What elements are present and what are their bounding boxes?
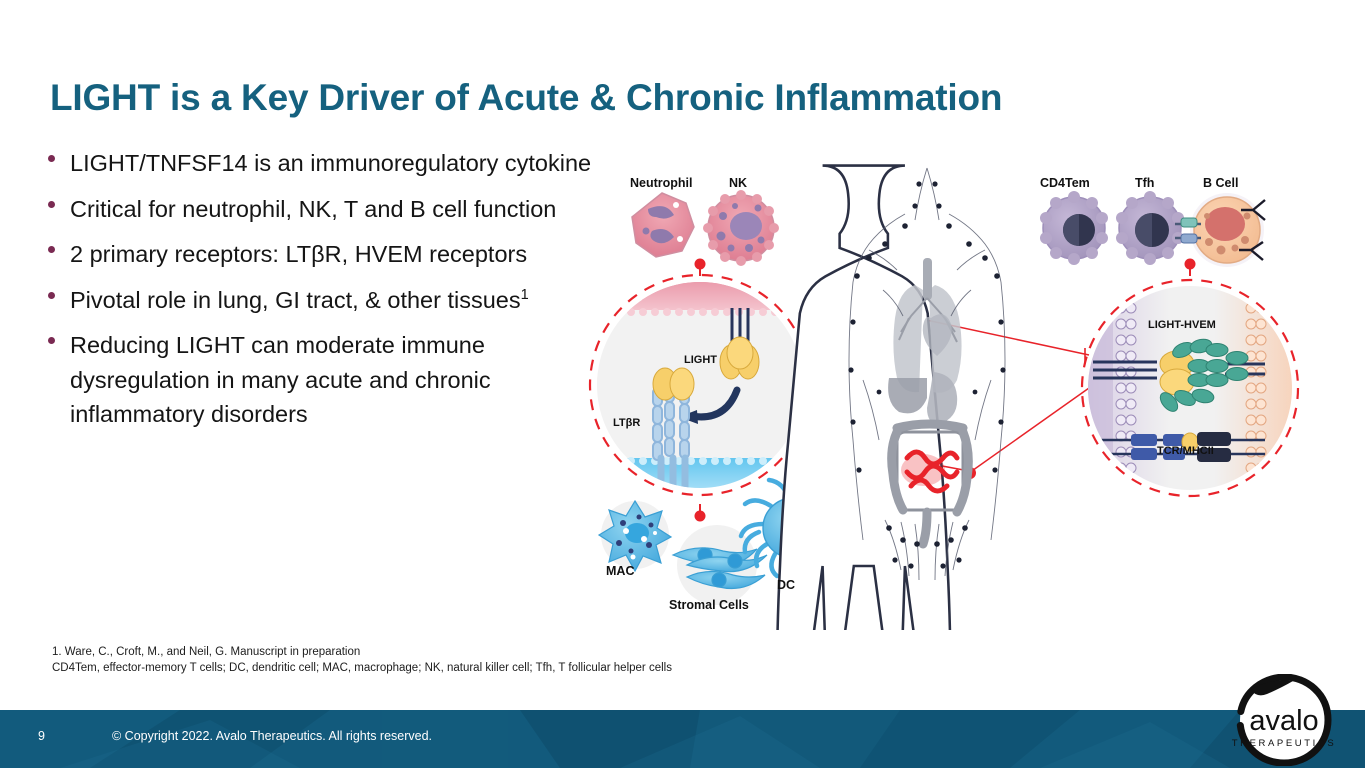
logo-svg: avalo THERAPEUTICS (1211, 674, 1357, 766)
slide: LIGHT is a Key Driver of Acute & Chronic… (0, 0, 1365, 768)
logo-tagline: THERAPEUTICS (1232, 738, 1337, 749)
label-ltbr: LTβR (613, 417, 640, 429)
label-mac: MAC (606, 564, 634, 578)
page-title: LIGHT is a Key Driver of Acute & Chronic… (50, 78, 1150, 119)
b-cell (1190, 193, 1265, 267)
list-item: Pivotal role in lung, GI tract, & other … (40, 283, 600, 318)
footnote-reference: 1 (521, 287, 529, 303)
label-tcr-mhcii: TCR/MHCII (1157, 445, 1214, 457)
logo-wordmark: avalo (1249, 705, 1318, 737)
label-dc: DC (777, 578, 795, 592)
list-item-text: 2 primary receptors: LTβR, HVEM receptor… (70, 241, 527, 267)
list-item-text: Pivotal role in lung, GI tract, & other … (70, 287, 521, 313)
footnote-2: CD4Tem, effector-memory T cells; DC, den… (52, 661, 952, 677)
mac-cell (599, 501, 671, 571)
list-item: Reducing LIGHT can moderate immune dysre… (40, 328, 600, 432)
bullet-marker-icon (48, 201, 55, 208)
list-item-text: Reducing LIGHT can moderate immune dysre… (70, 332, 491, 427)
human-body-figure (777, 166, 1005, 630)
label-light: LIGHT (684, 354, 717, 366)
list-item: Critical for neutrophil, NK, T and B cel… (40, 192, 600, 227)
light-signaling-diagram: Neutrophil NK CD4Tem Tfh B Cell LIGHT LT… (565, 140, 1325, 630)
footnote-1: 1. Ware, C., Croft, M., and Neil, G. Man… (52, 645, 952, 661)
copyright-text: © Copyright 2022. Avalo Therapeutics. Al… (112, 729, 432, 743)
footer-bar: 9 © Copyright 2022. Avalo Therapeutics. … (0, 710, 1365, 768)
bullet-marker-icon (48, 337, 55, 344)
label-nk: NK (729, 176, 747, 190)
bullet-marker-icon (48, 155, 55, 162)
ltbr-receptor (653, 368, 694, 492)
list-item-text: LIGHT/TNFSF14 is an immunoregulatory cyt… (70, 150, 591, 176)
light-hvem-panel (1082, 280, 1298, 500)
bullet-marker-icon (48, 246, 55, 253)
label-stromal: Stromal Cells (669, 598, 749, 612)
list-item: 2 primary receptors: LTβR, HVEM receptor… (40, 237, 600, 272)
nk-cell (703, 190, 779, 266)
diagram-svg (565, 140, 1325, 630)
bullet-marker-icon (48, 292, 55, 299)
label-light-hvem: LIGHT-HVEM (1148, 319, 1216, 331)
label-bcell: B Cell (1203, 176, 1238, 190)
footnotes: 1. Ware, C., Croft, M., and Neil, G. Man… (52, 645, 952, 676)
label-tfh: Tfh (1135, 176, 1154, 190)
label-cd4tem: CD4Tem (1040, 176, 1090, 190)
cd4tem-cell (1040, 191, 1108, 265)
list-item: LIGHT/TNFSF14 is an immunoregulatory cyt… (40, 146, 600, 181)
neutrophil-cell (632, 193, 694, 257)
page-number: 9 (38, 729, 45, 743)
tfh-cell (1116, 191, 1184, 265)
bullet-list: LIGHT/TNFSF14 is an immunoregulatory cyt… (40, 146, 600, 443)
label-neutrophil: Neutrophil (630, 176, 693, 190)
list-item-text: Critical for neutrophil, NK, T and B cel… (70, 196, 556, 222)
avalo-logo: avalo THERAPEUTICS (1211, 674, 1357, 766)
